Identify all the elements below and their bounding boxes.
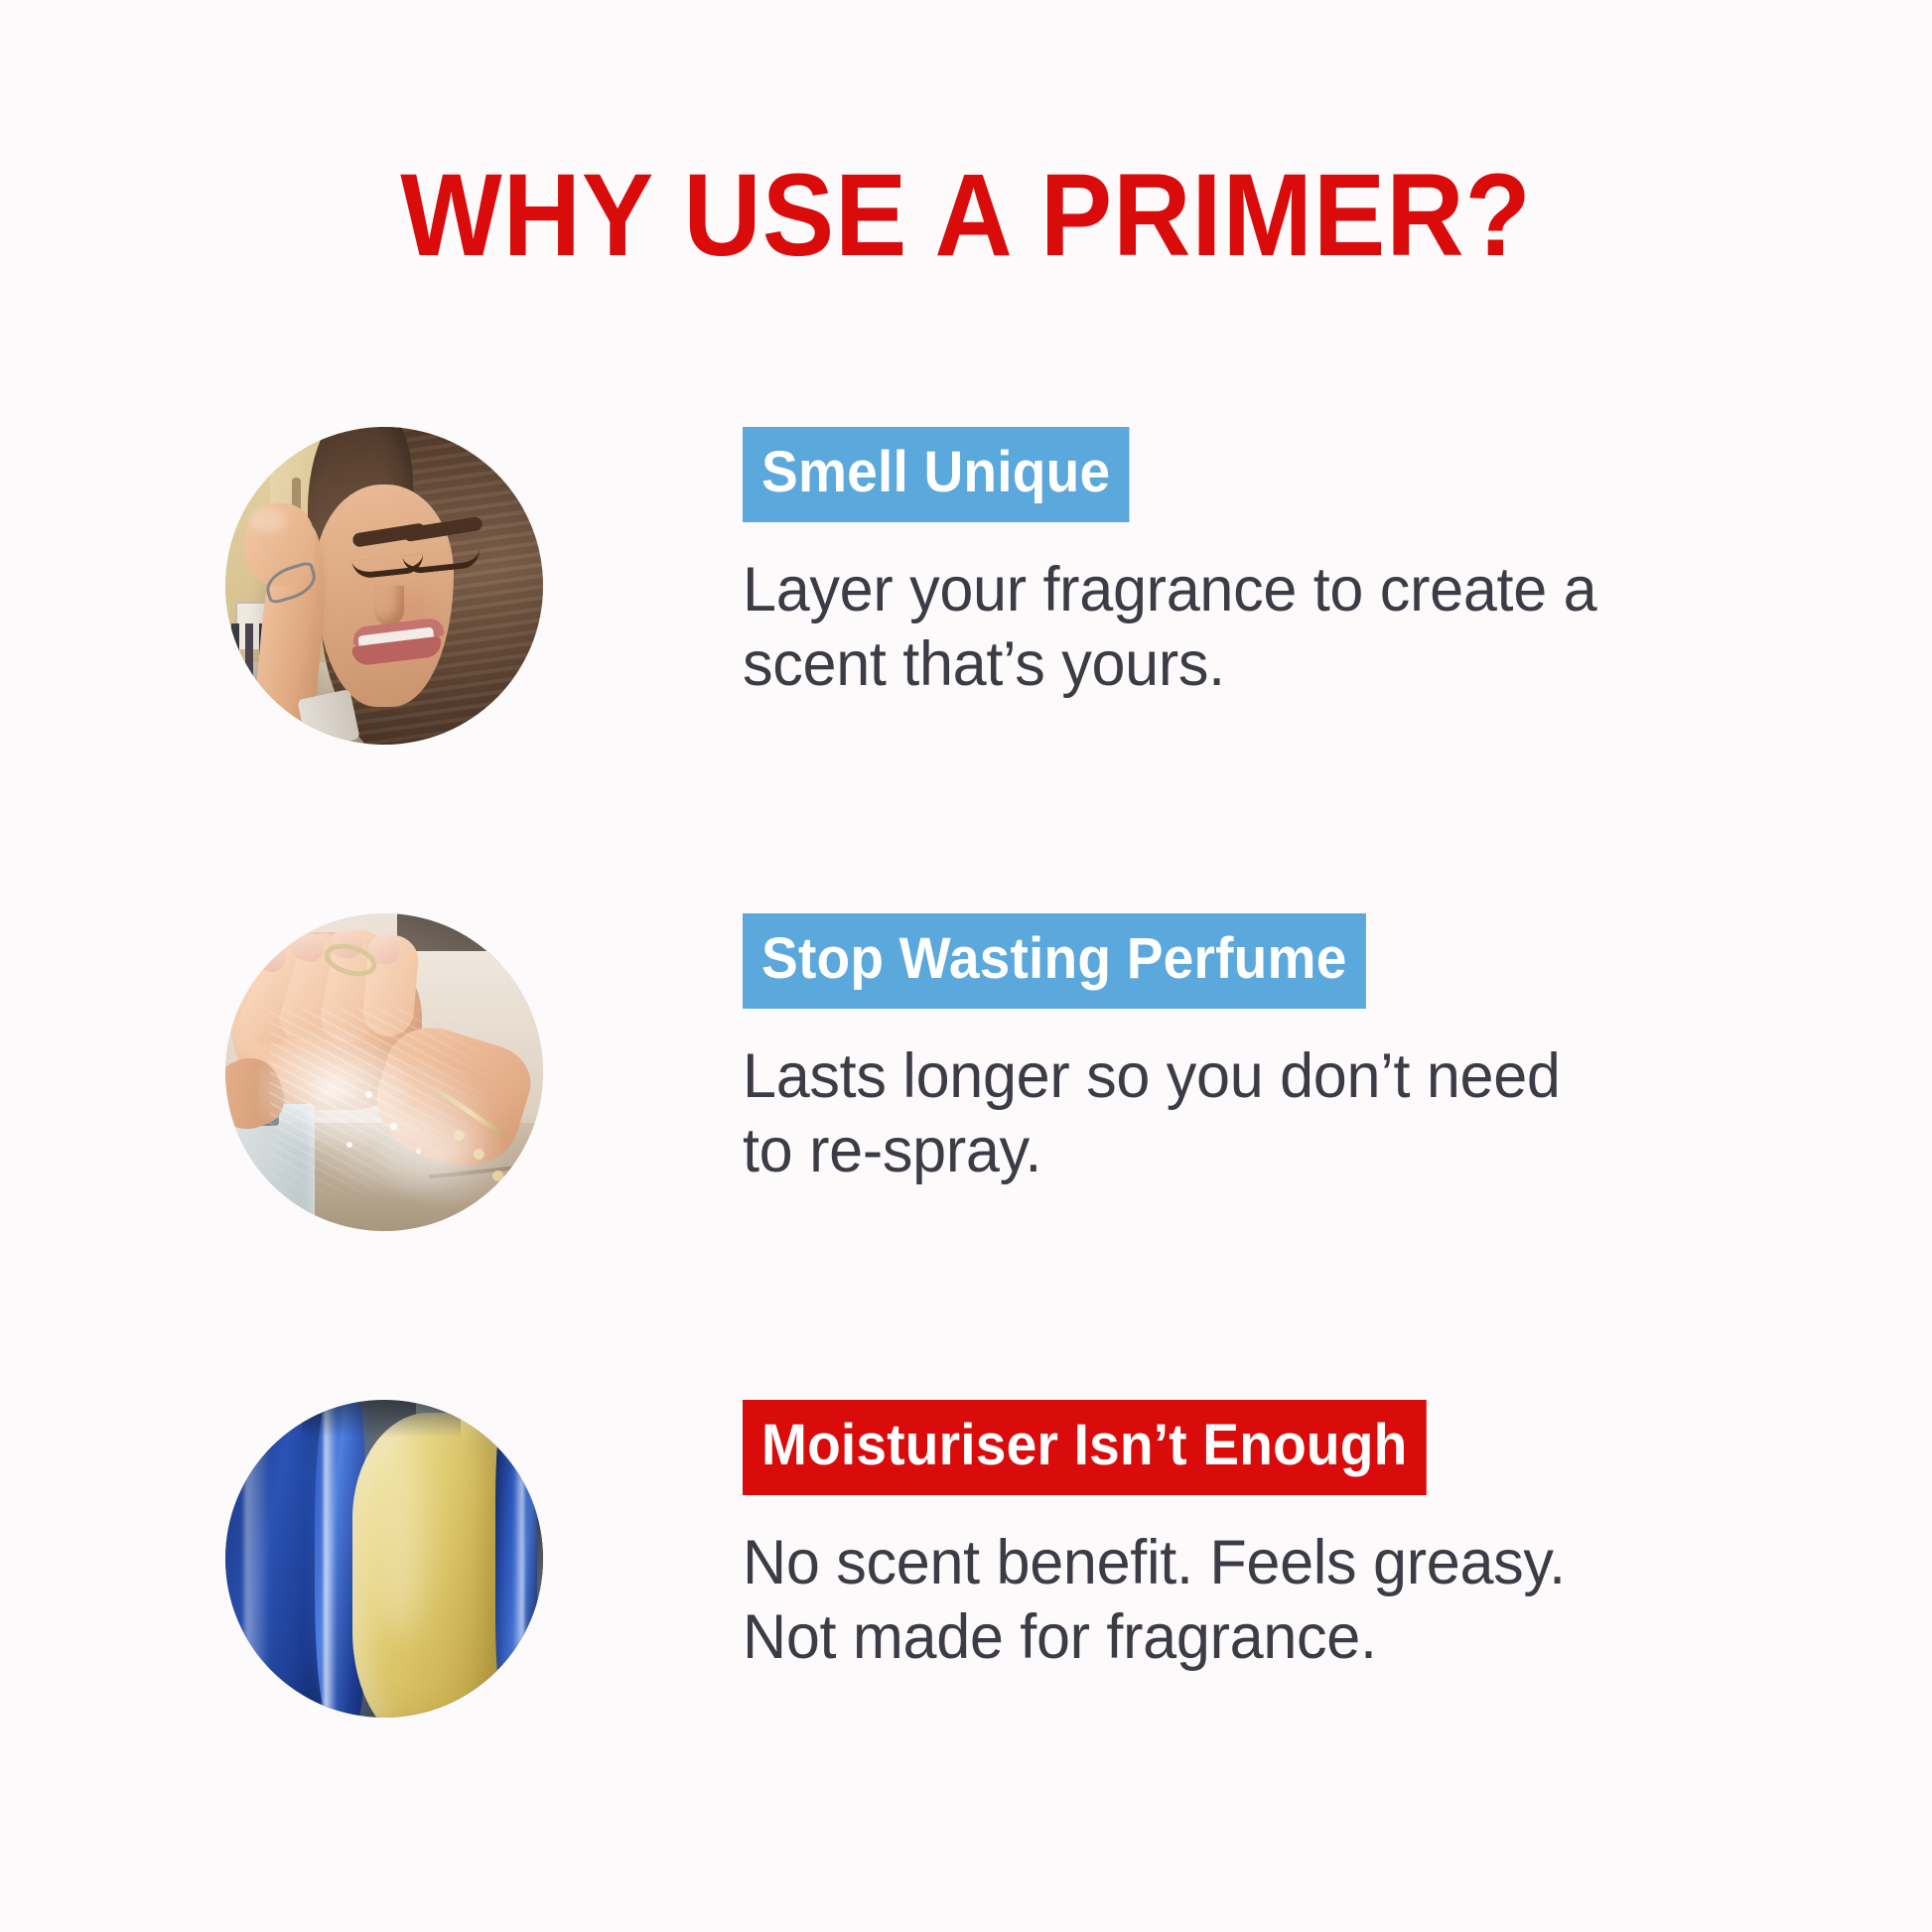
tub-rim-gloss	[324, 1400, 337, 1718]
nose	[374, 586, 404, 625]
benefit-image-1	[225, 427, 543, 745]
benefit-tag-3: Moisturiser Isn’t Enough	[743, 1400, 1426, 1495]
tub-rim-right-gloss	[513, 1400, 524, 1718]
benefit-image-2	[225, 913, 543, 1231]
benefit-image-2-wrapper	[225, 913, 543, 1231]
photo-spraying-perfume	[225, 913, 543, 1231]
page-title: WHY USE A PRIMER?	[77, 157, 1855, 274]
tub-left-highlight	[244, 1400, 270, 1718]
benefit-row-3: Moisturiser Isn’t Enough No scent benefi…	[0, 1400, 1932, 1727]
photo-moisturiser-tub	[225, 1400, 543, 1718]
top-shadow	[302, 1400, 461, 1438]
benefit-copy-2: Stop Wasting Perfume Lasts longer so you…	[743, 913, 1864, 1188]
benefit-row-2: Stop Wasting Perfume Lasts longer so you…	[0, 913, 1932, 1241]
benefit-body-1: Layer your fragrance to create a scent t…	[743, 553, 1831, 702]
benefit-tag-1: Smell Unique	[743, 427, 1129, 522]
benefit-image-3	[225, 1400, 543, 1718]
mist-droplet-3	[416, 1149, 421, 1154]
benefit-image-3-wrapper	[225, 1400, 543, 1718]
top-strap	[297, 689, 360, 745]
benefit-tag-2: Stop Wasting Perfume	[743, 913, 1366, 1009]
benefit-row-1: Smell Unique Layer your fragrance to cre…	[0, 427, 1932, 755]
benefit-copy-1: Smell Unique Layer your fragrance to cre…	[743, 427, 1864, 702]
benefit-body-2: Lasts longer so you don’t need to re-spr…	[743, 1039, 1831, 1188]
benefit-body-3: No scent benefit. Feels greasy. Not made…	[743, 1526, 1831, 1675]
benefit-copy-3: Moisturiser Isn’t Enough No scent benefi…	[743, 1400, 1864, 1675]
photo-woman-smelling-wrist	[225, 427, 543, 745]
benefit-image-1-wrapper	[225, 427, 543, 745]
mist-droplet-1	[365, 1091, 372, 1098]
spray-streaks	[270, 1009, 498, 1205]
jelly-highlight	[374, 1432, 425, 1635]
